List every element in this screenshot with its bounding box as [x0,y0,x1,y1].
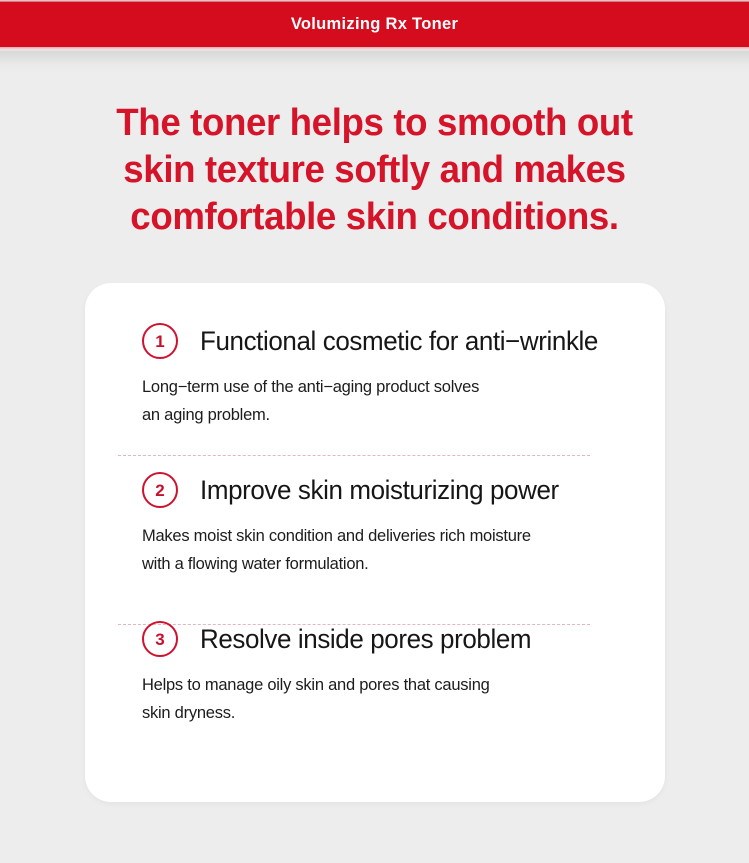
headline-line-3: comfortable skin conditions. [13,194,736,241]
product-title: Volumizing Rx Toner [291,15,458,34]
header-fade-gradient [0,51,749,73]
feature-2-desc-line-2: with a flowing water formulation. [142,550,632,578]
feature-2-description: Makes moist skin condition and deliverie… [142,522,632,578]
feature-1-heading-row: 1 Functional cosmetic for anti−wrinkle [118,321,632,361]
page-header: Volumizing Rx Toner [0,0,749,72]
feature-1-title: Functional cosmetic for anti−wrinkle [200,325,598,357]
badge-number-2: 2 [155,482,164,499]
feature-3-description: Helps to manage oily skin and pores that… [142,671,632,727]
badge-number-3: 3 [155,631,164,648]
feature-1-description: Long−term use of the anti−aging product … [142,373,632,429]
feature-1-desc-line-1: Long−term use of the anti−aging product … [142,373,632,401]
feature-3-title: Resolve inside pores problem [200,623,531,655]
number-badge-3-icon: 3 [142,621,178,657]
number-badge-1-icon: 1 [142,323,178,359]
feature-item-2: 2 Improve skin moisturizing power Makes … [85,429,665,578]
headline-line-2: skin texture softly and makes [13,147,736,194]
headline: The toner helps to smooth out skin textu… [13,100,736,241]
feature-2-desc-line-1: Makes moist skin condition and deliverie… [142,522,632,550]
feature-1-desc-line-2: an aging problem. [142,401,632,429]
feature-3-desc-line-1: Helps to manage oily skin and pores that… [142,671,632,699]
feature-2-title: Improve skin moisturizing power [200,474,559,506]
headline-line-1: The toner helps to smooth out [13,100,736,147]
feature-item-1: 1 Functional cosmetic for anti−wrinkle L… [85,283,665,429]
number-badge-2-icon: 2 [142,472,178,508]
feature-3-heading-row: 3 Resolve inside pores problem [118,619,632,659]
feature-item-3: 3 Resolve inside pores problem Helps to … [85,578,665,727]
badge-number-1: 1 [155,333,164,350]
feature-card: 1 Functional cosmetic for anti−wrinkle L… [85,283,665,802]
feature-2-heading-row: 2 Improve skin moisturizing power [118,470,632,510]
feature-3-desc-line-2: skin dryness. [142,699,632,727]
header-red-bar: Volumizing Rx Toner [0,2,749,47]
feature-list: 1 Functional cosmetic for anti−wrinkle L… [85,283,665,727]
